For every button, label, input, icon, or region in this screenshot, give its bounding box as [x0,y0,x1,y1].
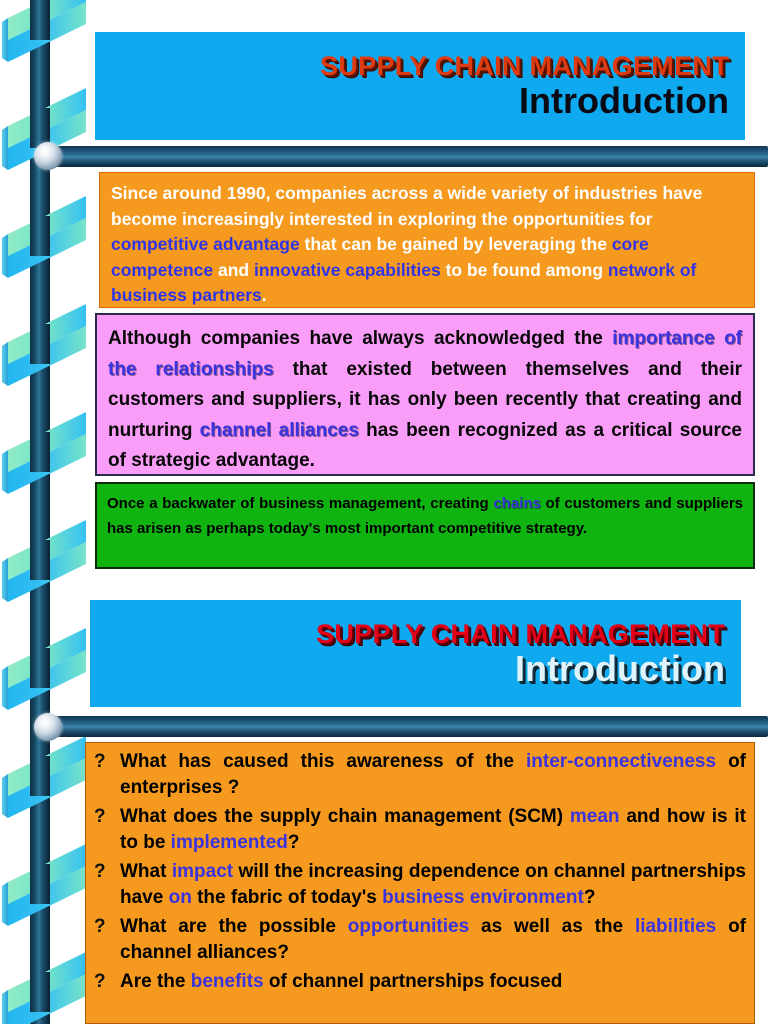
question-marker-icon: ? [94,914,120,940]
question-marker-icon: ? [94,804,120,830]
question-item-3[interactable]: ?What impact will the increasing depende… [94,859,746,910]
question-1-part-2: inter-connectiveness [526,751,716,772]
connector-node-top [34,142,62,170]
green-text-box: Once a backwater of business management,… [95,482,755,569]
banner-top-subtitle: Introduction [95,81,729,121]
banner-top: SUPPLY CHAIN MANAGEMENT Introduction [95,32,745,140]
orange-p4: to be found among [441,260,608,280]
question-5-part-1: Are the [120,971,191,992]
banner-bottom: SUPPLY CHAIN MANAGEMENT Introduction [90,600,741,707]
question-item-2[interactable]: ?What does the supply chain management (… [94,804,746,855]
banner-bottom-subtitle: Introduction [90,649,725,689]
questions-list: ?What has caused this awareness of the i… [94,749,746,995]
orange-hl-innovative-capabilities: innovative capabilities [254,260,441,280]
question-5-part-3: of channel partnerships focused [264,971,563,992]
orange-p1: Since around 1990, companies across a wi… [111,183,702,229]
slide-canvas: SUPPLY CHAIN MANAGEMENT Introduction Sin… [0,0,768,1024]
question-text-5: Are the benefits of channel partnerships… [120,969,746,995]
question-3-part-5: the fabric of today's [192,887,382,908]
question-text-4: What are the possible opportunities as w… [120,914,746,965]
question-2-part-2: mean [570,806,620,827]
connector-bar-top [42,146,768,167]
orange-p2: that can be gained by leveraging the [300,234,612,254]
question-2-part-4: implemented [171,832,288,853]
orange-text-box: Since around 1990, companies across a wi… [99,172,755,308]
orange-p3: and [213,260,254,280]
pink-hl-channel-alliances: channel alliances [200,420,359,441]
question-marker-icon: ? [94,859,120,885]
question-item-1[interactable]: ?What has caused this awareness of the i… [94,749,746,800]
question-3-part-7: ? [584,887,596,908]
pink-p1: Although companies have always acknowled… [108,328,612,349]
banner-top-title: SUPPLY CHAIN MANAGEMENT [95,51,729,81]
question-3-part-2: impact [172,861,233,882]
question-1-part-1: What has caused this awareness of the [120,751,526,772]
question-5-part-2: benefits [191,971,264,992]
green-hl-chains: chains [493,495,541,512]
question-3-part-4: on [169,887,192,908]
orange-hl-competitive-advantage: competitive advantage [111,234,300,254]
pink-text-box: Although companies have always acknowled… [95,313,755,476]
question-item-4[interactable]: ?What are the possible opportunities as … [94,914,746,965]
question-3-part-6: business environment [382,887,584,908]
question-4-part-2: opportunities [348,916,469,937]
question-marker-icon: ? [94,969,120,995]
question-item-5[interactable]: ?Are the benefits of channel partnership… [94,969,746,995]
question-2-part-1: What does the supply chain management (S… [120,806,570,827]
question-text-2: What does the supply chain management (S… [120,804,746,855]
orange-p5: . [262,285,267,305]
question-4-part-4: liabilities [635,916,716,937]
question-3-part-1: What [120,861,172,882]
question-text-1: What has caused this awareness of the in… [120,749,746,800]
question-marker-icon: ? [94,749,120,775]
questions-box: ?What has caused this awareness of the i… [85,742,755,1024]
connector-node-bottom [34,713,62,741]
question-4-part-1: What are the possible [120,916,348,937]
connector-bar-bottom [42,716,768,737]
question-2-part-5: ? [288,832,300,853]
question-text-3: What impact will the increasing dependen… [120,859,746,910]
green-p1: Once a backwater of business management,… [107,495,493,512]
banner-bottom-title: SUPPLY CHAIN MANAGEMENT [90,619,725,649]
question-4-part-3: as well as the [469,916,635,937]
